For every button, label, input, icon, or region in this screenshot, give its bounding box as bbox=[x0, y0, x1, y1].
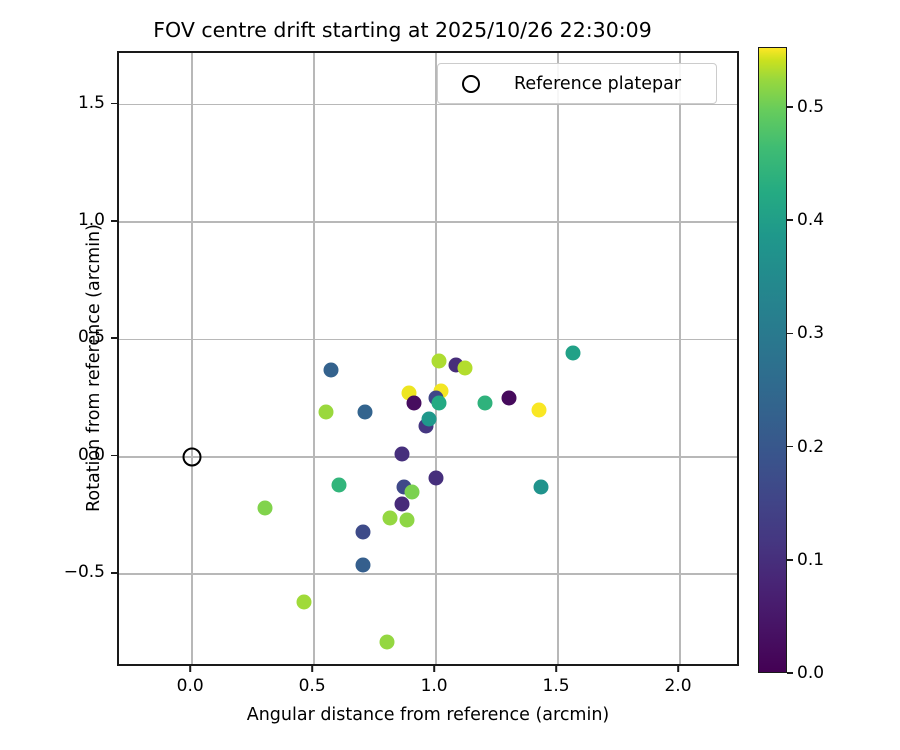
scatter-point bbox=[407, 395, 422, 410]
reference-platepar-point bbox=[183, 447, 202, 466]
scatter-point bbox=[477, 395, 492, 410]
scatter-point bbox=[355, 524, 370, 539]
legend-item-label: Reference platepar bbox=[514, 74, 681, 94]
scatter-point bbox=[404, 484, 419, 499]
x-tick-label: 0.5 bbox=[299, 676, 326, 696]
reference-platepar-marker-icon bbox=[462, 75, 480, 93]
x-tick-mark bbox=[555, 666, 557, 672]
scatter-point bbox=[297, 595, 312, 610]
x-tick-mark bbox=[189, 666, 191, 672]
gridline-horizontal bbox=[119, 339, 737, 341]
y-tick-mark bbox=[111, 103, 117, 105]
y-tick-mark bbox=[111, 572, 117, 574]
colorbar-tick-mark bbox=[787, 333, 793, 335]
x-tick-mark bbox=[677, 666, 679, 672]
scatter-point bbox=[324, 362, 339, 377]
x-tick-label: 2.0 bbox=[664, 676, 691, 696]
scatter-point bbox=[533, 480, 548, 495]
scatter-point bbox=[358, 405, 373, 420]
x-axis-label: Angular distance from reference (arcmin) bbox=[117, 705, 739, 725]
colorbar-tick-mark bbox=[787, 672, 793, 674]
scatter-point bbox=[421, 412, 436, 427]
scatter-point bbox=[531, 402, 546, 417]
y-tick-mark bbox=[111, 220, 117, 222]
x-tick-label: 0.0 bbox=[177, 676, 204, 696]
colorbar-tick-mark bbox=[787, 219, 793, 221]
colorbar-gradient bbox=[758, 47, 787, 673]
x-tick-label: 1.5 bbox=[543, 676, 570, 696]
scatter-point bbox=[331, 477, 346, 492]
x-tick-mark bbox=[433, 666, 435, 672]
scatter-point bbox=[319, 405, 334, 420]
gridline-horizontal bbox=[119, 221, 737, 223]
y-tick-mark bbox=[111, 455, 117, 457]
scatter-point bbox=[258, 501, 273, 516]
scatter-point bbox=[429, 470, 444, 485]
x-tick-label: 1.0 bbox=[421, 676, 448, 696]
scatter-point bbox=[458, 360, 473, 375]
chart-figure: FOV centre drift starting at 2025/10/26 … bbox=[0, 0, 900, 750]
gridline-horizontal bbox=[119, 456, 737, 458]
colorbar-tick-mark bbox=[787, 446, 793, 448]
colorbar-tick-label: 0.4 bbox=[797, 210, 824, 230]
colorbar-tick-label: 0.5 bbox=[797, 97, 824, 117]
gridline-horizontal bbox=[119, 104, 737, 106]
scatter-point bbox=[380, 635, 395, 650]
colorbar-tick-mark bbox=[787, 106, 793, 108]
y-axis-label: Rotation from reference (arcmin) bbox=[84, 168, 104, 568]
y-tick-label: 1.5 bbox=[78, 93, 105, 113]
scatter-point bbox=[355, 557, 370, 572]
x-tick-mark bbox=[311, 666, 313, 672]
scatter-point bbox=[502, 391, 517, 406]
legend: Reference platepar bbox=[437, 63, 717, 104]
scatter-point bbox=[394, 447, 409, 462]
y-tick-mark bbox=[111, 337, 117, 339]
scatter-point bbox=[431, 395, 446, 410]
scatter-point bbox=[399, 513, 414, 528]
scatter-point bbox=[382, 510, 397, 525]
colorbar-tick-mark bbox=[787, 559, 793, 561]
gridline-horizontal bbox=[119, 573, 737, 575]
colorbar-tick-label: 0.0 bbox=[797, 663, 824, 683]
colorbar-tick-label: 0.2 bbox=[797, 437, 824, 457]
scatter-point bbox=[565, 346, 580, 361]
colorbar-tick-label: 0.1 bbox=[797, 550, 824, 570]
plot-area bbox=[117, 51, 739, 666]
page-title: FOV centre drift starting at 2025/10/26 … bbox=[117, 18, 688, 42]
colorbar-tick-label: 0.3 bbox=[797, 323, 824, 343]
scatter-point bbox=[431, 353, 446, 368]
